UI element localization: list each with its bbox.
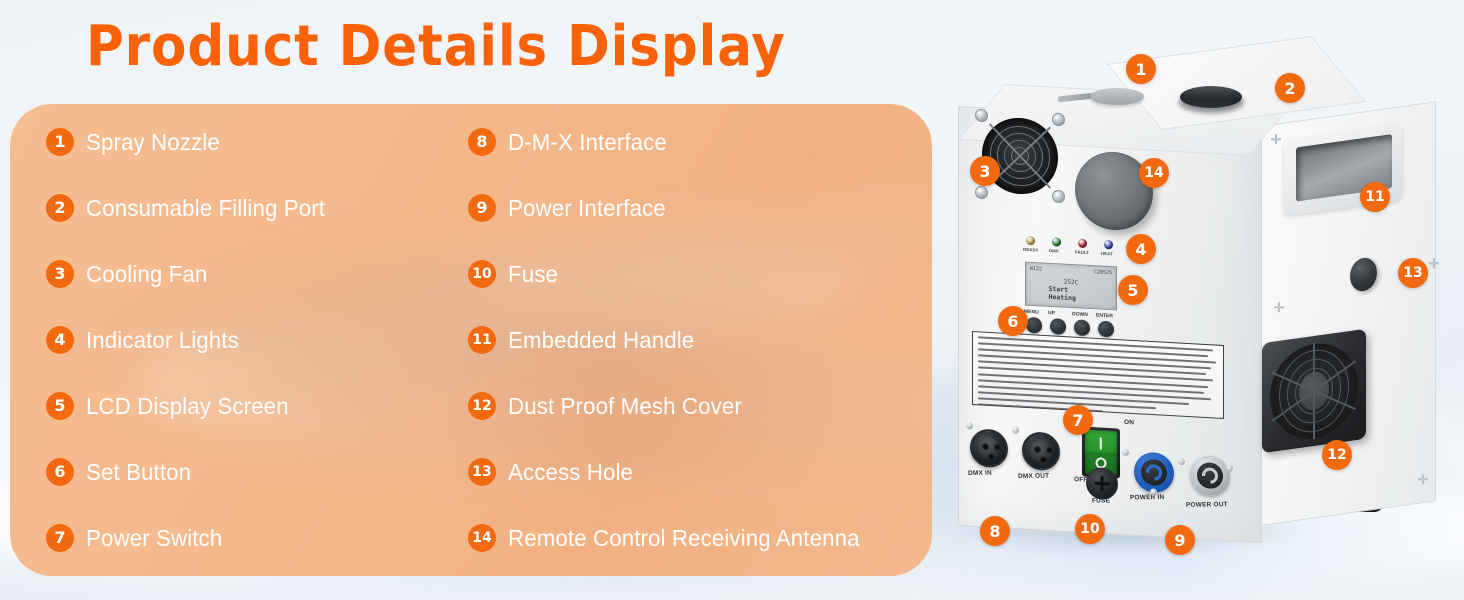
device-marker-5: 5	[1118, 275, 1148, 305]
lcd-top-left: W122	[1030, 266, 1042, 273]
dmx-out-connector[interactable]	[1022, 431, 1060, 471]
device-marker-3: 3	[970, 156, 1000, 186]
legend-item-5: 5LCD Display Screen	[46, 392, 295, 420]
device-marker-2: 2	[1275, 73, 1305, 103]
consumable-filling-port-cap[interactable]	[1180, 86, 1242, 108]
power-in-connector[interactable]	[1134, 451, 1174, 493]
lcd-status-text: Start Heating	[1049, 285, 1094, 303]
fan-screw-br	[1052, 190, 1065, 204]
legend-label-7: Power Switch	[86, 525, 222, 552]
lcd-display-screen: W122 C20S25 252C Start Heating	[1025, 262, 1117, 311]
dmx-in-connector[interactable]	[970, 428, 1008, 468]
indicator-label-dmx: DMX	[1049, 248, 1059, 254]
legend-item-9: 9Power Interface	[468, 194, 671, 222]
spray-nozzle	[1090, 88, 1144, 105]
cooling-fan	[978, 112, 1062, 200]
product-details-display: Product Details Display 1Spray Nozzle2Co…	[0, 0, 1464, 600]
device-marker-9: 9	[1165, 525, 1195, 555]
set-button-label-enter: ENTER	[1096, 313, 1113, 320]
legend-badge-13: 13	[468, 458, 496, 486]
legend-label-10: Fuse	[508, 261, 558, 288]
set-button-down[interactable]	[1074, 319, 1090, 336]
legend-badge-3: 3	[46, 260, 74, 288]
legend-item-3: 3Cooling Fan	[46, 260, 211, 288]
indicator-led-fault	[1078, 239, 1087, 248]
legend-badge-5: 5	[46, 392, 74, 420]
legend-item-7: 7Power Switch	[46, 524, 227, 552]
legend-badge-9: 9	[468, 194, 496, 222]
phillips-screw-far2: ✛	[1428, 258, 1440, 270]
page-title: Product Details Display	[86, 14, 786, 79]
legend-label-14: Remote Control Receiving Antenna	[508, 525, 860, 552]
panel-screw-3	[1122, 449, 1129, 456]
device-marker-11: 11	[1360, 182, 1390, 212]
phillips-screw-far: ✛	[1417, 474, 1429, 486]
legend-item-8: 8D-M-X Interface	[468, 128, 672, 156]
legend-item-6: 6Set Button	[46, 458, 194, 486]
legend-panel: 1Spray Nozzle2Consumable Filling Port3Co…	[10, 104, 932, 576]
legend-item-2: 2Consumable Filling Port	[46, 194, 332, 222]
legend-label-5: LCD Display Screen	[86, 393, 289, 420]
legend-label-3: Cooling Fan	[86, 261, 207, 288]
legend-label-6: Set Button	[86, 459, 191, 486]
legend-badge-6: 6	[46, 458, 74, 486]
phillips-screw-mid: ✛	[1273, 302, 1285, 314]
device-marker-1: 1	[1126, 54, 1156, 84]
legend-item-1: 1Spray Nozzle	[46, 128, 224, 156]
set-button-label-down: DOWN	[1072, 311, 1088, 318]
connector-panel: DMX IN DMX OUT ON OFF FUSE	[964, 416, 1254, 528]
panel-screw-2	[1012, 427, 1019, 434]
power-switch-on-label: ON	[1124, 419, 1134, 427]
panel-wave-1	[46, 219, 874, 420]
dmx-out-label: DMX OUT	[1018, 473, 1050, 480]
fan-screw-tr	[1052, 113, 1065, 127]
indicator-label-heat: HEAT	[1101, 251, 1113, 257]
fan-screw-tl	[975, 109, 988, 123]
legend-badge-10: 10	[468, 260, 496, 288]
legend-label-9: Power Interface	[508, 195, 666, 222]
legend-item-10: 10Fuse	[468, 260, 560, 288]
panel-screw-4	[1178, 458, 1185, 465]
legend-badge-14: 14	[468, 524, 496, 552]
power-out-label: POWER OUT	[1186, 501, 1228, 509]
legend-badge-7: 7	[46, 524, 74, 552]
legend-label-11: Embedded Handle	[508, 327, 694, 354]
legend-item-12: 12Dust Proof Mesh Cover	[468, 392, 749, 420]
device-marker-7: 7	[1063, 405, 1093, 435]
indicator-label-ready: READY	[1023, 247, 1039, 253]
power-out-connector[interactable]	[1190, 455, 1230, 497]
indicator-label-fault: FAULT	[1075, 249, 1089, 255]
set-button-menu[interactable]	[1026, 317, 1042, 334]
legend-badge-2: 2	[46, 194, 74, 222]
set-button-up[interactable]	[1050, 318, 1066, 335]
legend-item-13: 13Access Hole	[468, 458, 637, 486]
legend-badge-1: 1	[46, 128, 74, 156]
dmx-in-label: DMX IN	[968, 470, 992, 477]
lcd-top-right: C20S25	[1094, 269, 1112, 276]
device-marker-6: 6	[998, 306, 1028, 336]
legend-badge-12: 12	[468, 392, 496, 420]
fuse-label: FUSE	[1092, 497, 1111, 504]
legend-label-4: Indicator Lights	[86, 327, 239, 354]
set-button-enter[interactable]	[1098, 321, 1114, 338]
device-marker-14: 14	[1139, 158, 1169, 188]
legend-label-8: D-M-X Interface	[508, 129, 667, 156]
panel-screw-6	[1150, 488, 1157, 495]
device-marker-8: 8	[980, 516, 1010, 546]
indicator-led-ready	[1026, 236, 1035, 245]
mesh-grille	[1270, 338, 1358, 444]
legend-item-4: 4Indicator Lights	[46, 326, 244, 354]
dust-proof-mesh-cover	[1262, 329, 1366, 454]
indicator-led-heat	[1104, 240, 1113, 249]
panel-screw-5	[1226, 465, 1233, 472]
power-in-label: POWER IN	[1130, 494, 1165, 501]
device-marker-10: 10	[1075, 514, 1105, 544]
legend-label-13: Access Hole	[508, 459, 633, 486]
cooling-fan-grille	[982, 116, 1058, 196]
legend-label-1: Spray Nozzle	[86, 129, 220, 156]
legend-badge-8: 8	[468, 128, 496, 156]
set-button-label-up: UP	[1048, 310, 1055, 316]
fuse-holder[interactable]	[1086, 467, 1118, 501]
panel-screw-1	[966, 422, 973, 429]
legend-badge-4: 4	[46, 326, 74, 354]
legend-item-11: 11Embedded Handle	[468, 326, 700, 354]
phillips-screw-top: ✛	[1270, 134, 1282, 146]
device-photo: READYDMXFAULTHEAT W122 C20S25 252C Start…	[930, 0, 1464, 600]
fan-screw-bl	[975, 186, 988, 200]
warning-label	[972, 331, 1224, 419]
legend-badge-11: 11	[468, 326, 496, 354]
device-marker-4: 4	[1126, 234, 1156, 264]
legend-item-14: 14Remote Control Receiving Antenna	[468, 524, 870, 552]
device-marker-13: 13	[1398, 258, 1428, 288]
indicator-led-dmx	[1052, 237, 1061, 246]
legend-label-12: Dust Proof Mesh Cover	[508, 393, 742, 420]
legend-label-2: Consumable Filling Port	[86, 195, 325, 222]
device-marker-12: 12	[1322, 440, 1352, 470]
